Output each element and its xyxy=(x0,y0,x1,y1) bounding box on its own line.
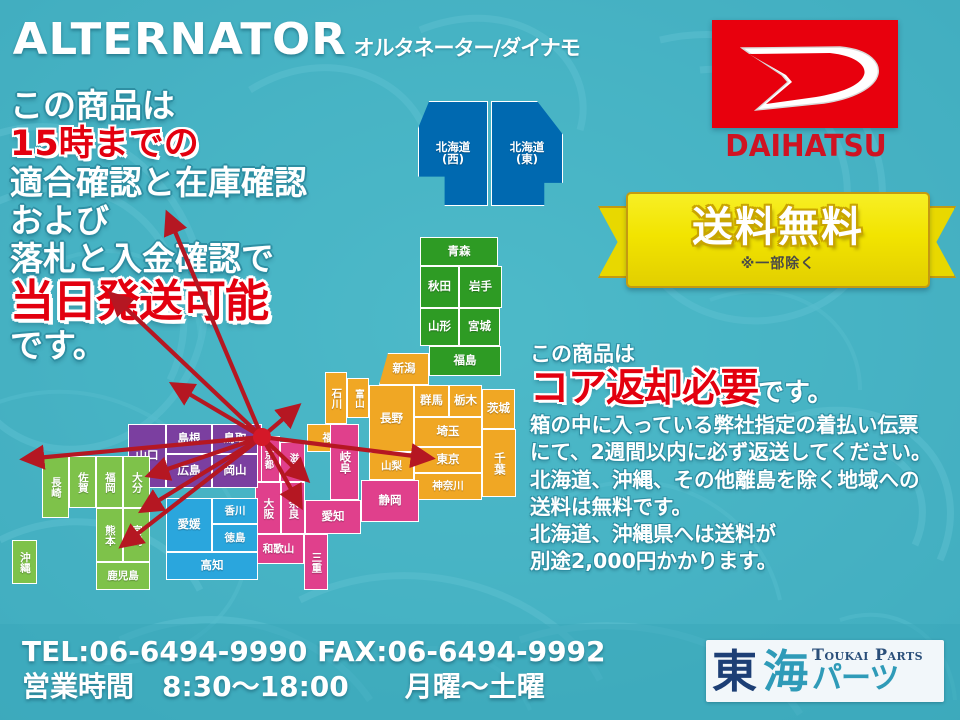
pref-tottori[interactable]: 鳥取 xyxy=(212,424,258,454)
right-copy-body-line-6: 別途2,000円かかります。 xyxy=(530,548,956,575)
pref-yamagata[interactable]: 山形 xyxy=(420,308,459,346)
pref-label: 東京 xyxy=(437,454,460,466)
pref-aomori[interactable]: 青森 xyxy=(420,237,498,266)
pref-kumamoto[interactable]: 熊本 xyxy=(96,508,123,562)
pref-label: 石川 xyxy=(331,388,342,409)
pref-miyazaki[interactable]: 宮崎 xyxy=(123,508,150,562)
title-main-text: ALTERNATOR xyxy=(13,18,347,62)
free-shipping-ribbon: 送料無料 ※一部除く xyxy=(598,192,956,288)
pref-ibaraki[interactable]: 茨城 xyxy=(482,389,515,429)
pref-okinawa[interactable]: 沖縄 xyxy=(12,540,37,584)
pref-label: 富山 xyxy=(353,389,363,408)
pref-tokushima[interactable]: 徳島 xyxy=(212,524,258,552)
pref-gunma[interactable]: 群馬 xyxy=(414,385,449,417)
pref-label: 栃木 xyxy=(454,395,477,407)
pref-label: 鹿児島 xyxy=(107,571,139,582)
pref-miyagi[interactable]: 宮城 xyxy=(459,308,500,346)
right-copy-body-line-5: 北海道、沖縄県へは送料が xyxy=(530,521,956,548)
pref-label: 群馬 xyxy=(420,395,443,407)
pref-label: 長野 xyxy=(380,413,403,425)
pref-label: 宮崎 xyxy=(131,525,142,546)
pref-toyama[interactable]: 富山 xyxy=(347,378,369,418)
pref-kagawa[interactable]: 香川 xyxy=(212,498,258,524)
daihatsu-logo: DAIHATSU xyxy=(712,20,900,162)
right-copy-body-line-4: 送料は無料です。 xyxy=(530,494,956,521)
daihatsu-emblem-box xyxy=(712,20,898,128)
pref-label: 岐阜 xyxy=(339,451,351,474)
pref-label: 和歌山 xyxy=(263,544,295,555)
pref-ishikawa[interactable]: 石川 xyxy=(325,372,347,424)
japan-shipping-map: 北海道 (西) 北海道 (東) 青森 秋田 岩手 山形 宮城 福島 新潟 石川 … xyxy=(0,90,540,600)
pref-nara[interactable]: 奈良 xyxy=(281,482,305,534)
right-copy-headline: コア返却必要 です。 xyxy=(530,369,956,408)
pref-label: 奈良 xyxy=(288,498,299,519)
pref-nagasaki[interactable]: 長崎 xyxy=(42,456,69,518)
pref-label: 山形 xyxy=(428,321,451,333)
pref-nagano[interactable]: 長野 xyxy=(369,385,414,452)
right-copy-body-line-2: にて、2週間以内に必ず返送してください。 xyxy=(530,439,956,466)
pref-label: 岩手 xyxy=(469,281,492,293)
pref-label: 神奈川 xyxy=(432,481,464,492)
pref-label: 三重 xyxy=(311,552,322,573)
pref-label: 島根 xyxy=(178,433,201,445)
footer-contact-block: TEL:06-6494-9990 FAX:06-6494-9992 営業時間 8… xyxy=(22,634,606,705)
pref-label: 沖縄 xyxy=(19,552,30,573)
pref-label: 岡山 xyxy=(224,465,247,477)
pref-label: 福岡 xyxy=(104,472,115,493)
pref-tokyo[interactable]: 東京 xyxy=(414,447,482,473)
right-copy-headline-red: コア返却必要 xyxy=(530,369,758,408)
pref-label: 広島 xyxy=(178,465,201,477)
pref-label: 高知 xyxy=(201,560,224,572)
pref-fukuoka[interactable]: 福岡 xyxy=(96,456,123,508)
pref-label: 愛知 xyxy=(322,511,345,523)
pref-label: 宮城 xyxy=(468,321,491,333)
pref-kochi[interactable]: 高知 xyxy=(166,552,258,580)
pref-osaka[interactable]: 大阪 xyxy=(255,482,281,534)
pref-label: 静岡 xyxy=(379,495,402,507)
pref-ehime[interactable]: 愛媛 xyxy=(166,498,212,552)
title-subtitle-katakana: オルタネーター/ダイナモ xyxy=(354,38,580,62)
ribbon-note-text: ※一部除く xyxy=(741,253,816,273)
pref-label: 熊本 xyxy=(104,525,115,546)
pref-label: 佐賀 xyxy=(77,472,88,493)
pref-akita[interactable]: 秋田 xyxy=(420,266,459,308)
pref-label: 京都 xyxy=(263,450,273,469)
pref-chiba[interactable]: 千葉 xyxy=(482,429,516,497)
pref-kanagawa[interactable]: 神奈川 xyxy=(414,473,482,500)
footer-business-hours: 営業時間 8:30〜18:00 月曜〜土曜 xyxy=(22,669,606,704)
right-promo-copy: この商品は コア返却必要 です。 箱の中に入っている弊社指定の着払い伝票 にて、… xyxy=(530,342,956,576)
logo-katakana: パーツ xyxy=(812,663,923,695)
logo-kanji-higashi: 東 xyxy=(712,649,757,694)
logo-text-stack: Toukai Parts パーツ xyxy=(812,647,923,695)
pref-shizuoka[interactable]: 静岡 xyxy=(361,480,419,522)
pref-label: 大阪 xyxy=(263,498,274,519)
right-copy-body-line-1: 箱の中に入っている弊社指定の着払い伝票 xyxy=(530,412,956,439)
daihatsu-wordmark: DAIHATSU xyxy=(718,132,895,162)
pref-label: 青森 xyxy=(448,246,471,258)
pref-label: 徳島 xyxy=(225,533,246,544)
ribbon-main-text: 送料無料 xyxy=(692,207,864,248)
pref-label: 大分 xyxy=(131,472,142,493)
right-copy-intro: この商品は xyxy=(530,342,956,366)
pref-tochigi[interactable]: 栃木 xyxy=(449,385,482,417)
pref-saga[interactable]: 佐賀 xyxy=(69,456,96,508)
pref-mie[interactable]: 三重 xyxy=(304,534,328,590)
right-copy-body-line-3: 北海道、沖縄、その他離島を除く地域への xyxy=(530,467,956,494)
pref-label: 埼玉 xyxy=(437,426,460,438)
pref-label: 長崎 xyxy=(50,477,61,498)
pref-aichi[interactable]: 愛知 xyxy=(305,500,361,534)
pref-label: 北海道 (西) xyxy=(436,142,471,166)
pref-okayama[interactable]: 岡山 xyxy=(212,454,258,488)
pref-label: 香川 xyxy=(225,506,246,517)
pref-label: 福島 xyxy=(454,355,477,367)
pref-kagoshima[interactable]: 鹿児島 xyxy=(96,562,150,590)
pref-label: 北海道 (東) xyxy=(510,142,545,166)
pref-gifu[interactable]: 岐阜 xyxy=(330,424,359,500)
pref-yamanashi[interactable]: 山梨 xyxy=(369,452,414,480)
pref-shimane[interactable]: 島根 xyxy=(166,424,212,454)
toukai-parts-logo[interactable]: 東 海 Toukai Parts パーツ xyxy=(706,640,944,702)
pref-hokkaido-west[interactable]: 北海道 (西) xyxy=(418,101,488,206)
pref-oita[interactable]: 大分 xyxy=(123,456,150,508)
daihatsu-d-emblem-icon xyxy=(712,20,898,128)
pref-label: 滋賀 xyxy=(288,453,298,472)
pref-label: 鳥取 xyxy=(224,433,247,445)
pref-shiga[interactable]: 滋賀 xyxy=(280,442,305,482)
pref-label: 茨城 xyxy=(487,403,510,415)
pref-niigata[interactable]: 新潟 xyxy=(379,353,429,385)
pref-label: 愛媛 xyxy=(178,519,201,531)
pref-label: 山梨 xyxy=(381,461,402,472)
page-title: ALTERNATOR オルタネーター/ダイナモ xyxy=(16,18,580,62)
ribbon-body: 送料無料 ※一部除く xyxy=(626,192,930,288)
pref-label: 千葉 xyxy=(493,452,505,475)
pref-fukushima[interactable]: 福島 xyxy=(429,346,501,376)
pref-hiroshima[interactable]: 広島 xyxy=(166,454,212,488)
pref-wakayama[interactable]: 和歌山 xyxy=(253,534,304,564)
pref-label: 秋田 xyxy=(428,281,451,293)
logo-kanji-umi: 海 xyxy=(763,649,808,694)
right-copy-headline-tail: です。 xyxy=(758,380,833,406)
footer-tel-fax: TEL:06-6494-9990 FAX:06-6494-9992 xyxy=(22,634,606,669)
poster-canvas: ALTERNATOR オルタネーター/ダイナモ この商品は 15時までの 適合確… xyxy=(0,0,960,720)
pref-label: 新潟 xyxy=(393,363,416,375)
pref-saitama[interactable]: 埼玉 xyxy=(414,417,482,447)
pref-iwate[interactable]: 岩手 xyxy=(459,266,502,308)
